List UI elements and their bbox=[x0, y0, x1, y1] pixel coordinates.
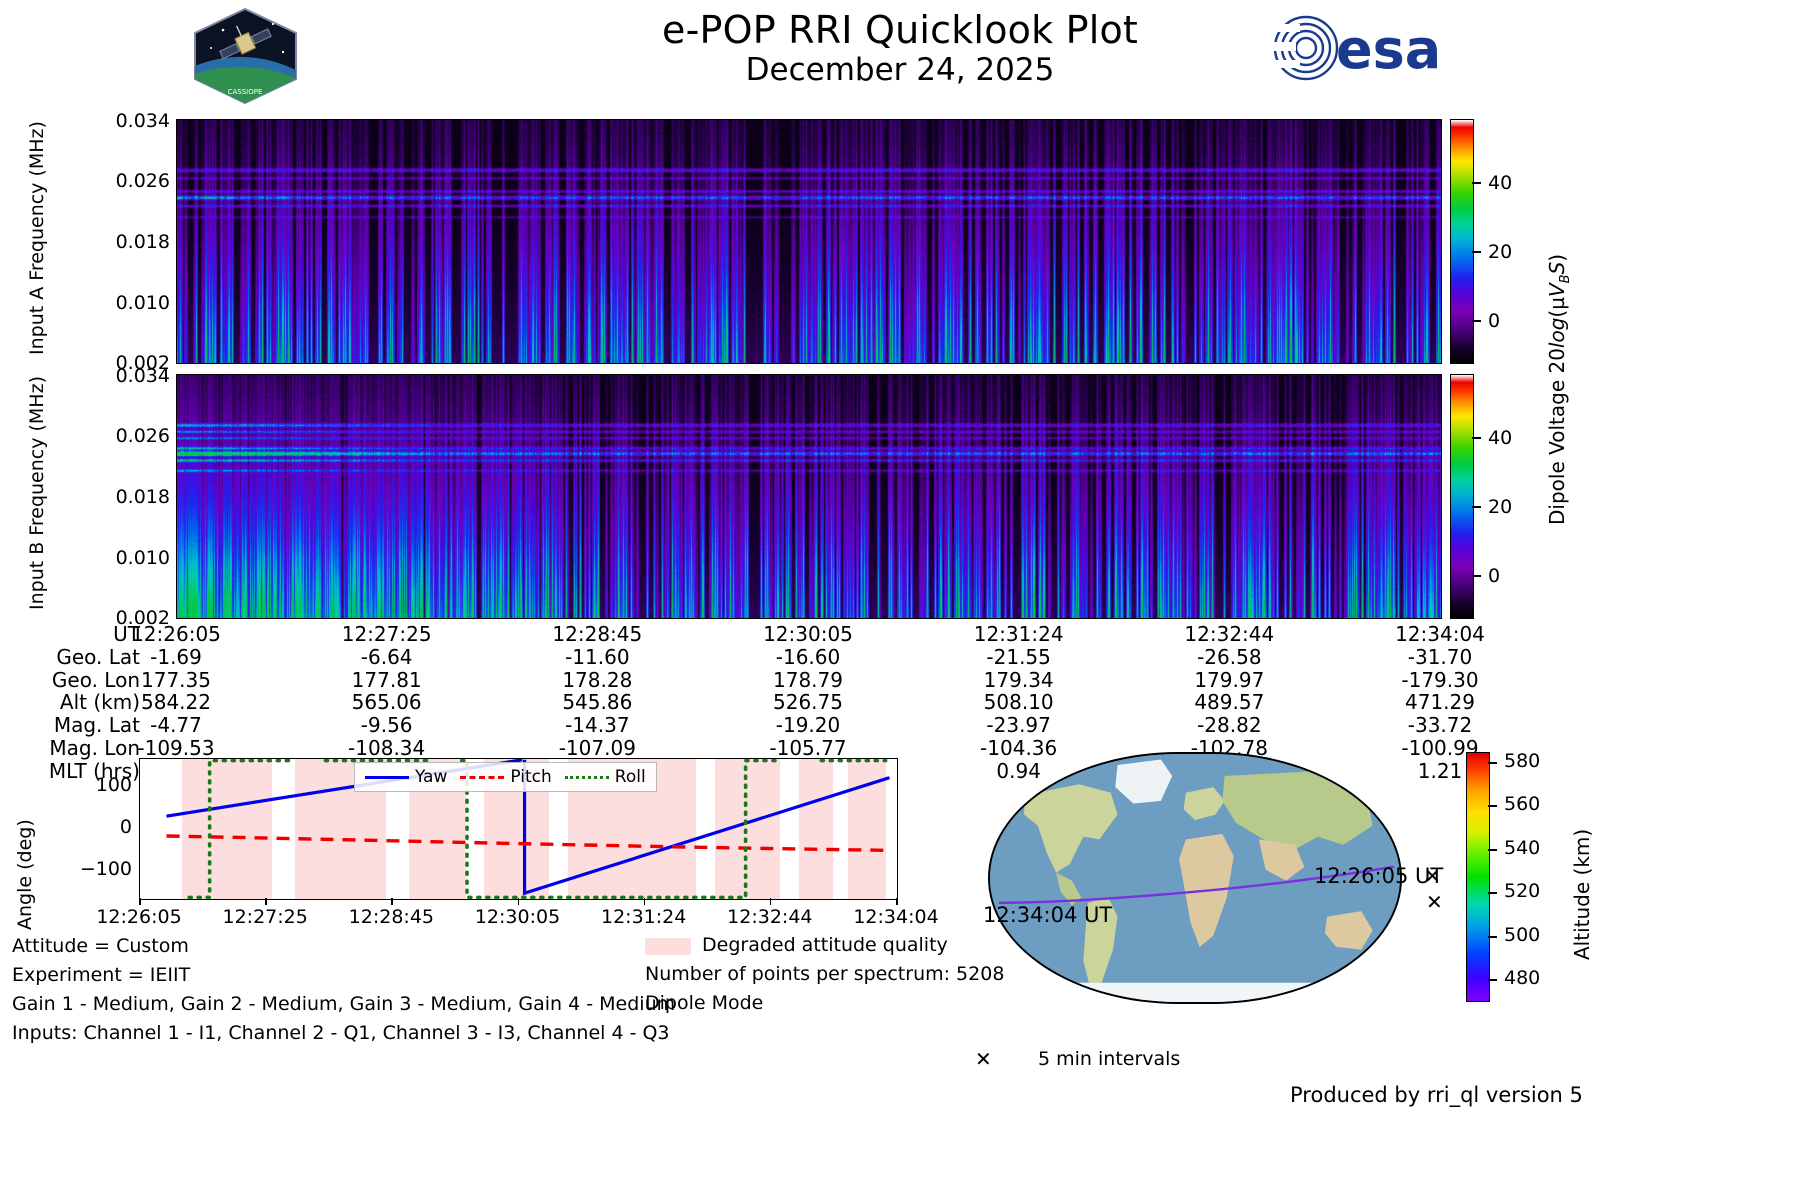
annotation-dipole-mode: Dipole Mode bbox=[645, 992, 763, 1014]
attitude-ylabel-text: Angle (deg) bbox=[14, 819, 36, 930]
attitude-legend: Yaw Pitch Roll bbox=[354, 762, 657, 792]
altitude-tickmark-500 bbox=[1488, 936, 1497, 938]
colorbar-title-text: Dipole Voltage 20 bbox=[1545, 348, 1569, 525]
colorbar-b-tickmark-0 bbox=[1472, 575, 1481, 577]
attitude-ytick-neg100: −100 bbox=[40, 858, 132, 880]
attitude-xtick-label-2: 12:28:45 bbox=[319, 906, 463, 928]
legend-item-pitch: Pitch bbox=[460, 767, 551, 787]
ephemeris-cell-mag-lon-3: -105.77 bbox=[708, 736, 908, 760]
producer-label: Produced by rri_ql version 5 bbox=[1290, 1083, 1583, 1107]
ephemeris-cell-geo-lon-6: -179.30 bbox=[1340, 668, 1540, 692]
attitude-xtick-label-0: 12:26:05 bbox=[67, 906, 211, 928]
altitude-tickmark-480 bbox=[1488, 979, 1497, 981]
ephemeris-cell-mag-lat-1: -9.56 bbox=[287, 713, 487, 737]
ephemeris-cell-mag-lat-2: -14.37 bbox=[497, 713, 697, 737]
ephemeris-cell-mag-lat-3: -19.20 bbox=[708, 713, 908, 737]
colorbar-b-tickmark-40 bbox=[1472, 437, 1481, 439]
ephemeris-cell-mag-lat-4: -23.97 bbox=[919, 713, 1119, 737]
ephemeris-cell-mag-lon-1: -108.34 bbox=[287, 736, 487, 760]
colorbar-b-tick-40: 40 bbox=[1488, 427, 1512, 449]
altitude-tick-label-540: 540 bbox=[1504, 837, 1540, 859]
specB-canvas bbox=[177, 375, 1441, 618]
ephemeris-cell-geo-lat-1: -6.64 bbox=[287, 645, 487, 669]
colorbar-title-units: (µVBS) bbox=[1545, 254, 1569, 318]
mission-logo-text: CASSIOPE bbox=[228, 88, 263, 96]
attitude-xtick-label-6: 12:34:04 bbox=[824, 906, 968, 928]
annotation-inputs: Inputs: Channel 1 - I1, Channel 2 - Q1, … bbox=[12, 1022, 670, 1044]
altitude-tick-label-500: 500 bbox=[1504, 924, 1540, 946]
panel-a-ytick-3: 0.010 bbox=[40, 292, 170, 314]
ephemeris-cell-geo-lat-6: -31.70 bbox=[1340, 645, 1540, 669]
legend-label-yaw: Yaw bbox=[415, 767, 447, 787]
colorbar-a-tick-20: 20 bbox=[1488, 241, 1512, 263]
panel-b-ytick-1: 0.026 bbox=[40, 425, 170, 447]
colorbar-a-tick-0: 0 bbox=[1488, 310, 1500, 332]
esa-logo: esa bbox=[1270, 12, 1485, 88]
interval-legend-label: 5 min intervals bbox=[1038, 1048, 1180, 1070]
ephemeris-cell-ut-2: 12:28:45 bbox=[497, 622, 697, 646]
panel-a-ytick-1: 0.026 bbox=[40, 170, 170, 192]
ephemeris-cell-ut-3: 12:30:05 bbox=[708, 622, 908, 646]
ephemeris-cell-ut-4: 12:31:24 bbox=[919, 622, 1119, 646]
ephemeris-cell-alt-1: 565.06 bbox=[287, 690, 487, 714]
panel-a-ytick-2: 0.018 bbox=[40, 231, 170, 253]
ephemeris-cell-geo-lat-3: -16.60 bbox=[708, 645, 908, 669]
ephemeris-cell-alt-6: 471.29 bbox=[1340, 690, 1540, 714]
annotation-experiment: Experiment = IEIIT bbox=[12, 964, 190, 986]
ephemeris-cell-alt-5: 489.57 bbox=[1129, 690, 1329, 714]
altitude-colorbar-title: Altitude (km) bbox=[1570, 829, 1594, 960]
ephemeris-cell-geo-lon-0: 177.35 bbox=[76, 668, 276, 692]
altitude-tickmark-520 bbox=[1488, 892, 1497, 894]
attitude-xtickmark-4 bbox=[644, 898, 646, 905]
legend-label-pitch: Pitch bbox=[510, 767, 551, 787]
panel-b-ytick-3: 0.010 bbox=[40, 547, 170, 569]
ephemeris-cell-alt-0: 584.22 bbox=[76, 690, 276, 714]
ephemeris-cell-ut-5: 12:32:44 bbox=[1129, 622, 1329, 646]
pitch-line bbox=[166, 836, 889, 850]
ephemeris-cell-ut-6: 12:34:04 bbox=[1340, 622, 1540, 646]
ephemeris-cell-geo-lon-3: 178.79 bbox=[708, 668, 908, 692]
ephemeris-cell-mag-lat-0: -4.77 bbox=[76, 713, 276, 737]
attitude-ylabel: Angle (deg) bbox=[14, 819, 36, 930]
attitude-xtickmark-1 bbox=[265, 898, 267, 905]
attitude-xtick-label-4: 12:31:24 bbox=[572, 906, 716, 928]
attitude-ytick-100: 100 bbox=[50, 774, 132, 796]
ephemeris-cell-ut-0: 12:26:05 bbox=[76, 622, 276, 646]
colorbar-a-tick-40: 40 bbox=[1488, 172, 1512, 194]
annotation-points-per-spectrum: Number of points per spectrum: 5208 bbox=[645, 963, 1004, 985]
colorbar-b-tickmark-20 bbox=[1472, 506, 1481, 508]
altitude-tick-label-560: 560 bbox=[1504, 793, 1540, 815]
annotation-degraded-legend: Degraded attitude quality bbox=[702, 934, 948, 956]
cassiope-mission-logo: CASSIOPE bbox=[193, 8, 298, 104]
ephemeris-cell-alt-2: 545.86 bbox=[497, 690, 697, 714]
ephemeris-cell-mag-lon-0: -109.53 bbox=[76, 736, 276, 760]
colorbar-a-tickmark-20 bbox=[1472, 251, 1481, 253]
ephemeris-cell-geo-lon-1: 177.81 bbox=[287, 668, 487, 692]
ephemeris-cell-mag-lat-6: -33.72 bbox=[1340, 713, 1540, 737]
map-marker-start-icon: ✕ bbox=[1424, 864, 1441, 888]
colorbar-b-tick-0: 0 bbox=[1488, 565, 1500, 587]
colorbar-a-tickmark-0 bbox=[1472, 320, 1481, 322]
altitude-tickmark-540 bbox=[1488, 849, 1497, 851]
colorbar-b bbox=[1450, 374, 1474, 619]
colorbar-a bbox=[1450, 119, 1474, 364]
altitude-tick-label-480: 480 bbox=[1504, 967, 1540, 989]
legend-label-roll: Roll bbox=[615, 767, 646, 787]
annotation-gain: Gain 1 - Medium, Gain 2 - Medium, Gain 3… bbox=[12, 993, 675, 1015]
ephemeris-cell-mag-lat-5: -28.82 bbox=[1129, 713, 1329, 737]
attitude-xtickmark-2 bbox=[391, 898, 393, 905]
ephemeris-cell-geo-lat-0: -1.69 bbox=[76, 645, 276, 669]
spectrogram-panel-b bbox=[176, 374, 1442, 619]
ephemeris-cell-geo-lon-2: 178.28 bbox=[497, 668, 697, 692]
degraded-swatch bbox=[645, 938, 691, 955]
interval-legend-icon: ✕ bbox=[975, 1047, 992, 1071]
roll-line-swatch bbox=[565, 776, 609, 779]
attitude-xtick-label-1: 12:27:25 bbox=[193, 906, 337, 928]
ephemeris-table: UTGeo. LatGeo. LonAlt (km)Mag. LatMag. L… bbox=[0, 620, 1800, 740]
altitude-tickmark-580 bbox=[1488, 762, 1497, 764]
attitude-xtickmark-0 bbox=[139, 898, 141, 905]
attitude-xtickmark-6 bbox=[896, 898, 898, 905]
specA-canvas bbox=[177, 120, 1441, 363]
altitude-tick-label-520: 520 bbox=[1504, 880, 1540, 902]
ephemeris-cell-geo-lat-2: -11.60 bbox=[497, 645, 697, 669]
annotation-attitude: Attitude = Custom bbox=[12, 935, 189, 957]
colorbar-b-tick-20: 20 bbox=[1488, 496, 1512, 518]
spectrogram-panel-a bbox=[176, 119, 1442, 364]
colorbar-title-log: log bbox=[1545, 318, 1569, 349]
legend-item-yaw: Yaw bbox=[365, 767, 447, 787]
ephemeris-cell-mag-lon-2: -107.09 bbox=[497, 736, 697, 760]
attitude-xtickmark-3 bbox=[518, 898, 520, 905]
ephemeris-cell-geo-lat-4: -21.55 bbox=[919, 645, 1119, 669]
attitude-xtick-label-5: 12:32:44 bbox=[698, 906, 842, 928]
panel-a-ytick-0: 0.034 bbox=[40, 110, 170, 132]
ephemeris-cell-ut-1: 12:27:25 bbox=[287, 622, 487, 646]
ephemeris-cell-geo-lat-5: -26.58 bbox=[1129, 645, 1329, 669]
colorbar-title: Dipole Voltage 20log(µVBS) bbox=[1545, 254, 1573, 525]
altitude-colorbar bbox=[1466, 752, 1490, 1002]
ephemeris-cell-geo-lon-4: 179.34 bbox=[919, 668, 1119, 692]
esa-logo-text: esa bbox=[1336, 18, 1441, 81]
ephemeris-cell-geo-lon-5: 179.97 bbox=[1129, 668, 1329, 692]
ephemeris-cell-alt-4: 508.10 bbox=[919, 690, 1119, 714]
map-marker-5min-icon: ✕ bbox=[1426, 890, 1443, 914]
attitude-ytick-0: 0 bbox=[50, 816, 132, 838]
ephemeris-cell-alt-3: 526.75 bbox=[708, 690, 908, 714]
panel-b-ytick-0: 0.034 bbox=[40, 365, 170, 387]
altitude-tickmark-560 bbox=[1488, 805, 1497, 807]
pitch-line-swatch bbox=[460, 776, 504, 779]
altitude-tick-label-580: 580 bbox=[1504, 750, 1540, 772]
attitude-xtickmark-5 bbox=[770, 898, 772, 905]
attitude-xtick-label-3: 12:30:05 bbox=[446, 906, 590, 928]
colorbar-a-tickmark-40 bbox=[1472, 182, 1481, 184]
legend-item-roll: Roll bbox=[565, 767, 646, 787]
yaw-line-swatch bbox=[365, 776, 409, 779]
map-end-label: 12:34:04 UT bbox=[983, 903, 1112, 927]
panel-b-ytick-2: 0.018 bbox=[40, 486, 170, 508]
